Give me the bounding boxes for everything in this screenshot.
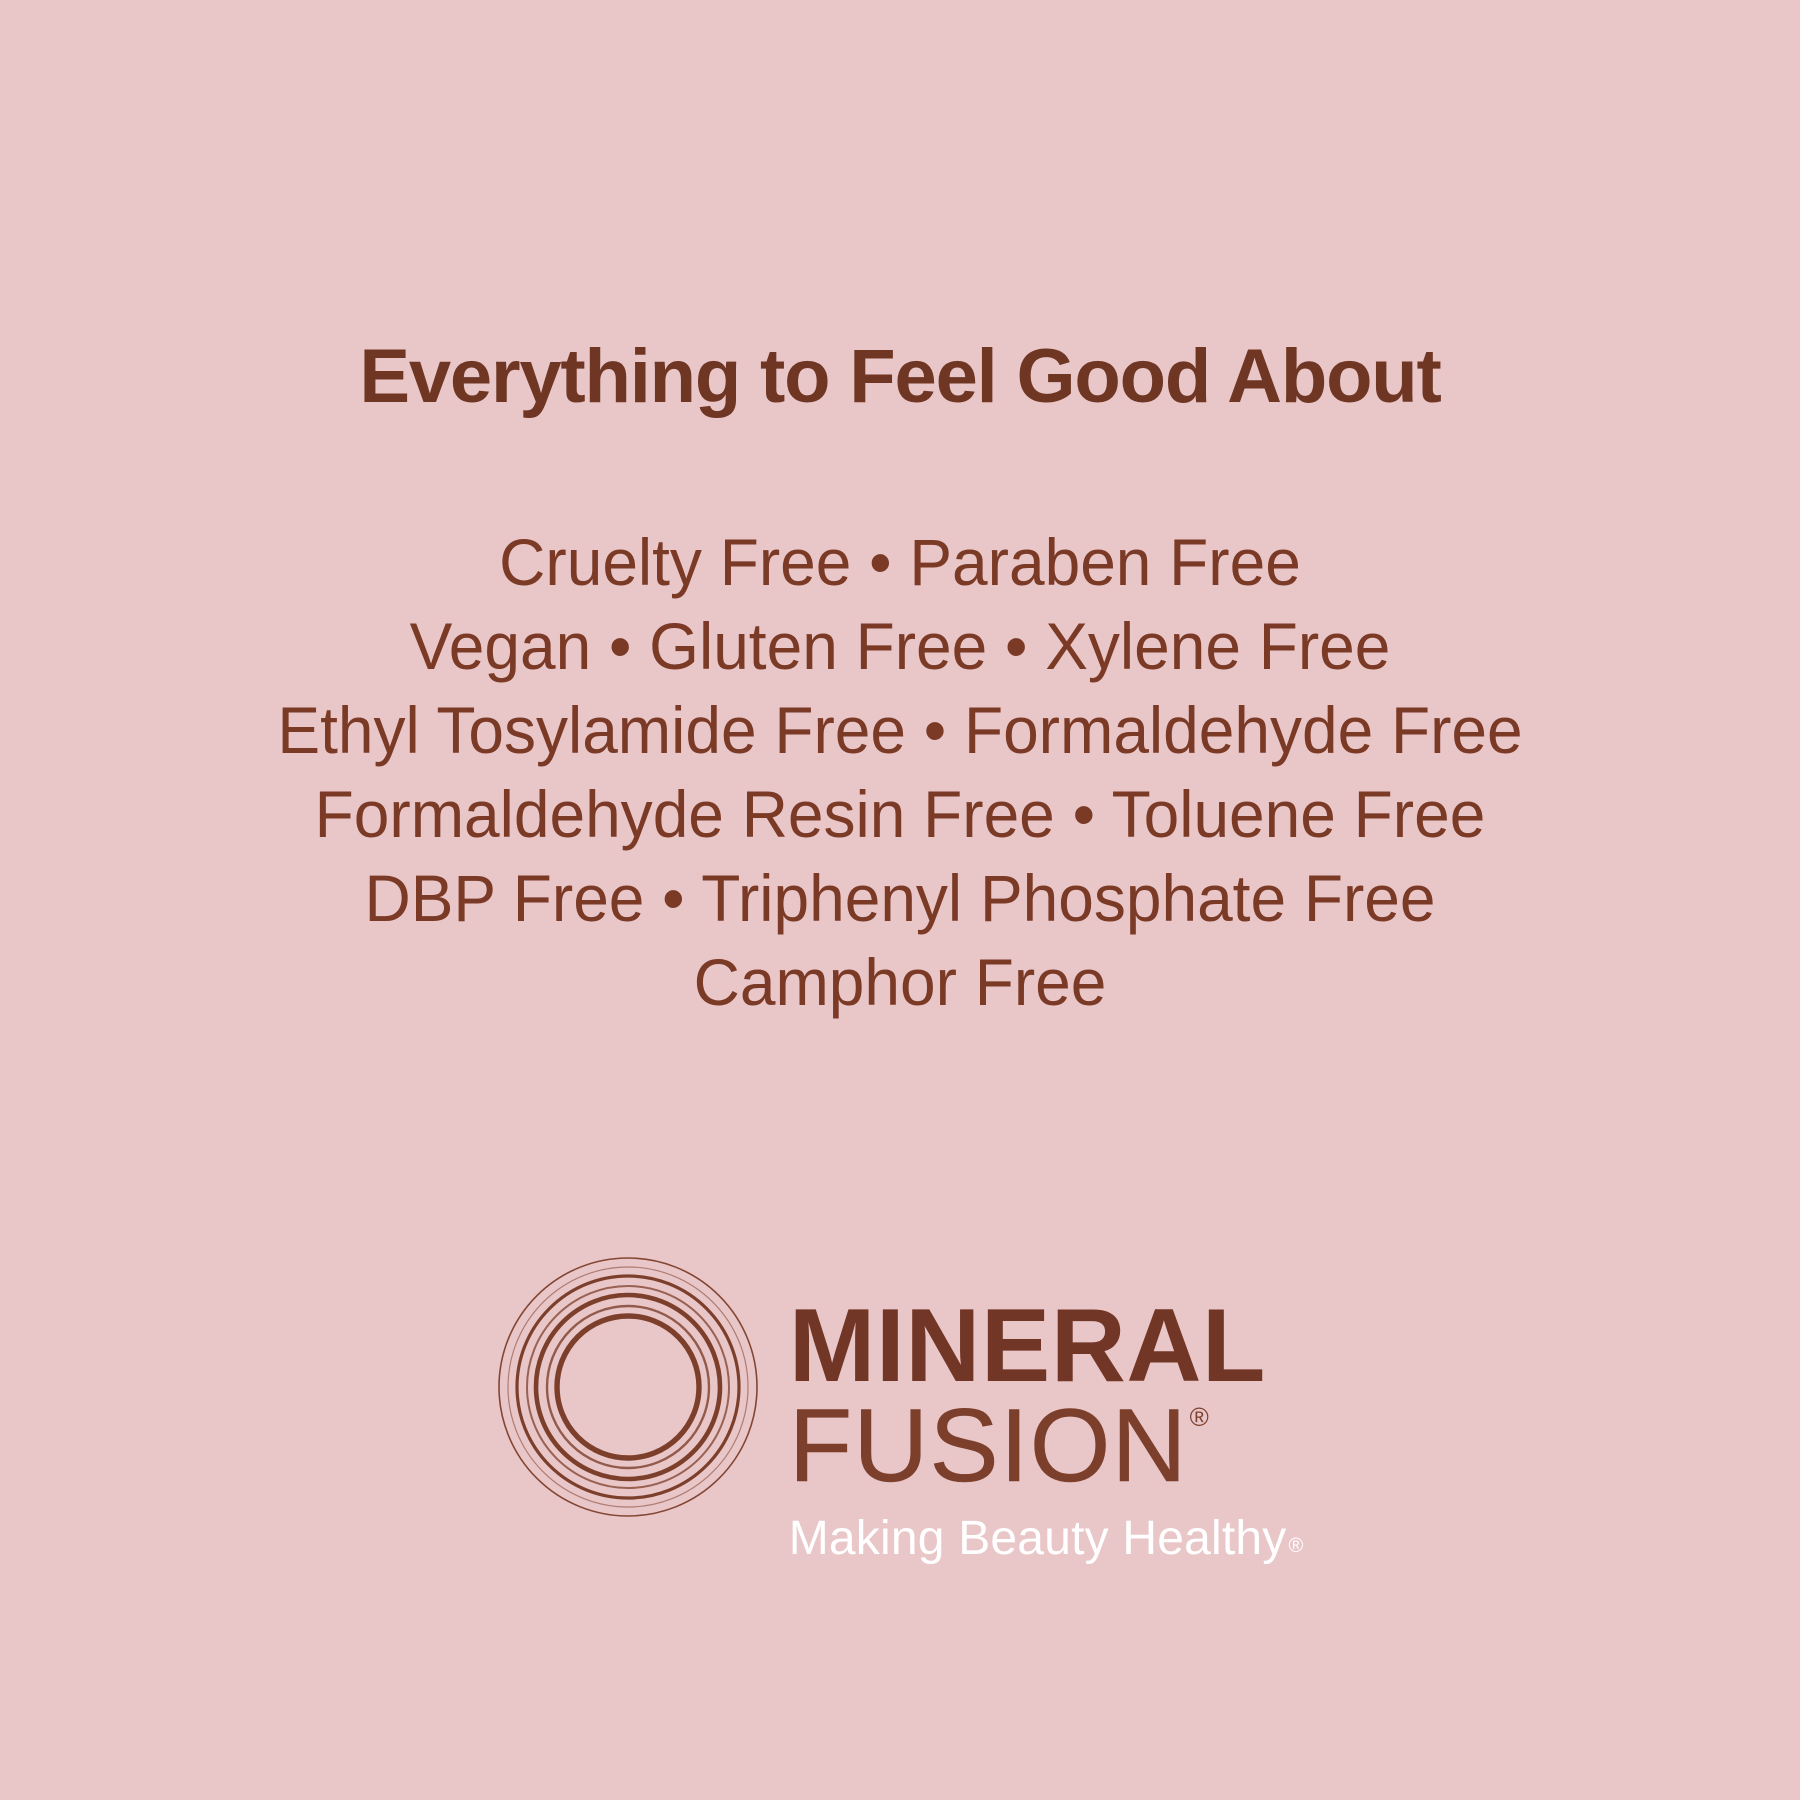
brand-tagline: Making Beauty Healthy xyxy=(789,1512,1287,1566)
brand-name-fusion: FUSION xyxy=(789,1394,1188,1498)
page-title: Everything to Feel Good About xyxy=(0,333,1800,421)
claims-list: Cruelty Free • Paraben Free Vegan • Glut… xyxy=(0,520,1800,1024)
claim-line: Formaldehyde Resin Free • Toluene Free xyxy=(27,772,1773,856)
brand-name-mineral: MINERAL xyxy=(789,1298,1266,1394)
claim-line: Vegan • Gluten Free • Xylene Free xyxy=(27,604,1773,688)
tagline-registered-trademark-icon: ® xyxy=(1289,1534,1304,1558)
tagline-row: Making Beauty Healthy ® xyxy=(789,1512,1304,1566)
logo-wordmark: MINERAL FUSION ® Making Beauty Healthy ® xyxy=(789,1250,1304,1566)
claim-line: Ethyl Tosylamide Free • Formaldehyde Fre… xyxy=(27,688,1773,772)
registered-trademark-icon: ® xyxy=(1190,1402,1209,1432)
logo-inner: MINERAL FUSION ® Making Beauty Healthy ® xyxy=(497,1250,1304,1566)
poster-canvas: Everything to Feel Good About Cruelty Fr… xyxy=(0,0,1800,1800)
claim-line: Camphor Free xyxy=(27,940,1773,1024)
claim-line: Cruelty Free • Paraben Free xyxy=(27,520,1773,604)
concentric-rings-logo-icon xyxy=(497,1256,759,1518)
claim-line: DBP Free • Triphenyl Phosphate Free xyxy=(27,856,1773,940)
brand-name-fusion-row: FUSION ® xyxy=(789,1394,1209,1498)
brand-logo-lockup: MINERAL FUSION ® Making Beauty Healthy ® xyxy=(0,1250,1800,1566)
